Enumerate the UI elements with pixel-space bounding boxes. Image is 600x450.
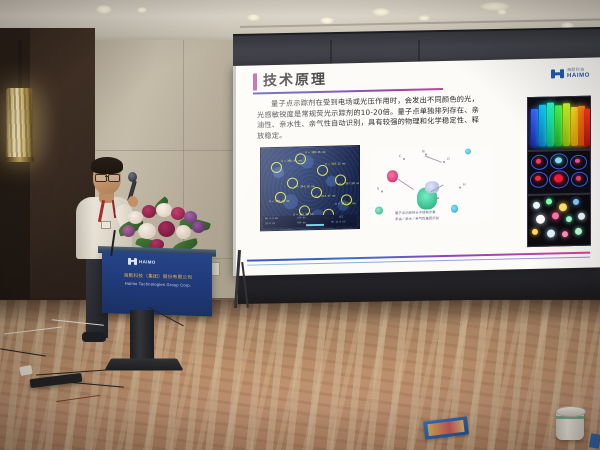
ceiling-downlight xyxy=(418,15,430,21)
molecule-atom-label: O xyxy=(447,157,450,161)
sem-label: d = 198.36 nm xyxy=(305,151,325,154)
ceiling-downlight xyxy=(320,17,334,24)
podium-base xyxy=(104,359,183,371)
sem-scale-bar xyxy=(306,223,324,225)
sem-status-item: SEI xyxy=(339,215,343,218)
sem-label: d = 310.12 nm xyxy=(325,162,345,165)
molecule-atom-label: N xyxy=(422,149,425,153)
speaker-glasses-bridge xyxy=(105,176,109,177)
haimo-logo-textblock: 海默科技 HAIMO xyxy=(567,67,590,81)
sem-label: d = 267.90 nm xyxy=(339,182,359,185)
podium: HAIMO 海默科技（集团）股份有限公司 Haimo Technologies … xyxy=(102,251,212,316)
microphone-head xyxy=(128,172,137,182)
molecule-caption-line2: 亲油／亲水／亲气性基团识别 xyxy=(395,216,439,221)
sem-status-item: 20.0 kV xyxy=(265,222,275,225)
molecule-atom-label: H xyxy=(463,183,466,187)
screen-left-edge xyxy=(233,66,236,276)
sem-label: d = 213.47 nm xyxy=(315,195,335,198)
sem-status-item: WD 9.8 mm xyxy=(265,217,278,220)
figure-molecule-diagram: C N O S H 量子点示踪剂分子结构示意 亲油／亲水／亲气性基团识别 xyxy=(373,146,493,225)
slide-body-text: 量子点示踪剂在受到电场或光压作用时，会发出不同颜色的光，光感敏锐度是常规荧光示踪… xyxy=(257,94,479,142)
podium-company-en: Haimo Technologies Group Corp. xyxy=(114,280,202,288)
figure-fluorescence-cells xyxy=(527,150,591,196)
conference-photo-scene: 技术原理 海默科技 HAIMO 量子点示踪剂在受到电场或光压作用时，会发出不同颜… xyxy=(0,0,600,450)
molecule-blob xyxy=(375,206,383,214)
figure-fluorescence-vials xyxy=(527,96,591,152)
floor-card xyxy=(589,433,600,448)
slide-title: 技术原理 xyxy=(263,72,327,91)
molecule-caption-line1: 量子点示踪剂分子结构示意 xyxy=(395,210,436,215)
pendant-lamp-cap xyxy=(5,157,34,162)
sem-status-item: HV 15.0 kV xyxy=(331,220,345,223)
molecule-blob xyxy=(387,170,398,182)
haimo-logo-en: HAIMO xyxy=(567,73,590,81)
ceiling-downlight xyxy=(497,9,507,15)
sem-label: d = 244.18 nm xyxy=(294,185,314,188)
ceiling-downlight xyxy=(247,14,260,21)
pendant-lamp-rod xyxy=(18,40,22,90)
speaker-glasses-lens xyxy=(108,174,120,182)
ceiling-downlight xyxy=(96,5,112,14)
ceiling-downlight xyxy=(372,8,390,16)
sem-status-item: 500 nm xyxy=(297,221,306,224)
speaker-shirt-shading xyxy=(76,197,94,259)
molecule-atom-label: C xyxy=(399,154,401,158)
slide-title-row: 技术原理 xyxy=(253,72,327,91)
pendant-lamp-texture xyxy=(6,88,33,160)
speaker-hair xyxy=(91,157,123,174)
podium-column xyxy=(130,310,154,362)
cup-rim xyxy=(556,406,586,417)
speaker-badge xyxy=(101,221,111,229)
booklet-cover-art xyxy=(427,420,464,436)
sem-status-item: x50.0k xyxy=(297,216,306,219)
ceiling-downlight xyxy=(137,7,147,13)
molecule-atom-label: S xyxy=(377,187,379,191)
molecule-blob xyxy=(451,205,458,213)
speaker-shoe xyxy=(82,332,106,342)
figure-fluorescence-dots xyxy=(527,194,591,248)
haimo-logo: 海默科技 HAIMO xyxy=(551,67,590,81)
podium-logo-icon xyxy=(128,258,137,265)
slide-body-content: 量子点示踪剂在受到电场或光压作用时，会发出不同颜色的光，光感敏锐度是常规荧光示踪… xyxy=(257,94,479,140)
sem-label: d = 286.44 nm xyxy=(281,159,301,162)
title-accent-bar xyxy=(253,73,257,90)
figure-sem-micrograph: d = 286.44 nm d = 198.36 nm d = 310.12 n… xyxy=(260,145,360,231)
podium-logo-text: HAIMO xyxy=(139,259,156,265)
sem-status-bar: WD 9.8 mm 20.0 kV x50.0k 500 nm SEI HV 1… xyxy=(263,214,357,228)
sem-label: d = 301.55 nm xyxy=(335,202,355,205)
projection-screen: 技术原理 海默科技 HAIMO 量子点示踪剂在受到电场或光压作用时，会发出不同颜… xyxy=(233,57,600,276)
podium-logo: HAIMO xyxy=(128,258,156,266)
molecule-blob xyxy=(465,148,471,154)
slide-surface: 技术原理 海默科技 HAIMO 量子点示踪剂在受到电场或光压作用时，会发出不同颜… xyxy=(233,57,600,276)
sem-label: d = 289.63 nm xyxy=(269,200,289,203)
haimo-logo-icon xyxy=(551,69,564,78)
